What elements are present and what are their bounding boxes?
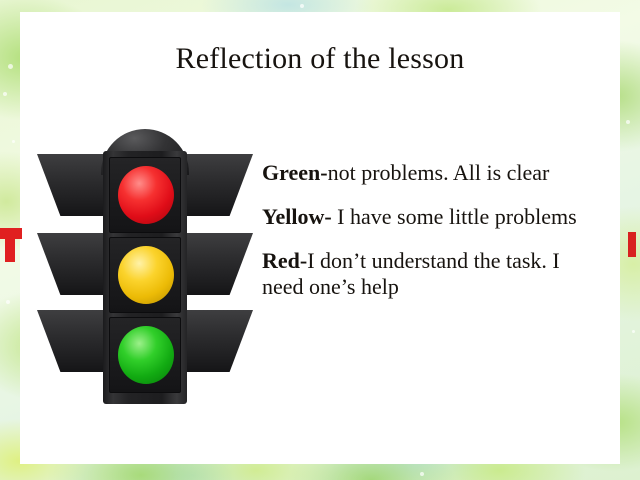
traffic-light-illustration	[35, 127, 255, 405]
background-speck	[632, 330, 635, 333]
legend-key-yellow: Yellow-	[262, 204, 337, 229]
legend-key-red: Red-	[262, 248, 307, 273]
background-speck	[300, 4, 304, 8]
legend-text-green: not problems. All is clear	[328, 160, 550, 185]
slide: Reflection of the lesson	[0, 0, 640, 480]
traffic-light-cell-yellow	[109, 237, 181, 313]
background-speck	[8, 64, 13, 69]
green-lamp-icon	[118, 326, 174, 384]
background-speck	[420, 472, 424, 476]
background-speck	[12, 140, 15, 143]
left-edge-red-mark-vertical	[5, 228, 15, 262]
background-speck	[3, 92, 7, 96]
traffic-light-cell-green	[109, 317, 181, 393]
legend-text-red: I don’t understand the task. I need one’…	[262, 248, 560, 300]
legend-item-red: Red-I don’t understand the task. I need …	[262, 248, 602, 302]
background-speck	[6, 300, 10, 304]
legend-item-yellow: Yellow- I have some little problems	[262, 204, 602, 231]
yellow-lamp-icon	[118, 246, 174, 304]
content-card: Reflection of the lesson	[20, 12, 620, 464]
left-edge-red-mark	[0, 228, 22, 262]
legend-list: Green-not problems. All is clear Yellow-…	[262, 160, 602, 318]
traffic-light-housing	[103, 151, 187, 404]
red-lamp-icon	[118, 166, 174, 224]
right-edge-red-mark	[628, 232, 636, 257]
background-speck	[626, 120, 630, 124]
page-title: Reflection of the lesson	[20, 42, 620, 76]
legend-key-green: Green-	[262, 160, 328, 185]
legend-item-green: Green-not problems. All is clear	[262, 160, 602, 187]
traffic-light-cell-red	[109, 157, 181, 233]
legend-text-yellow: I have some little problems	[337, 204, 577, 229]
